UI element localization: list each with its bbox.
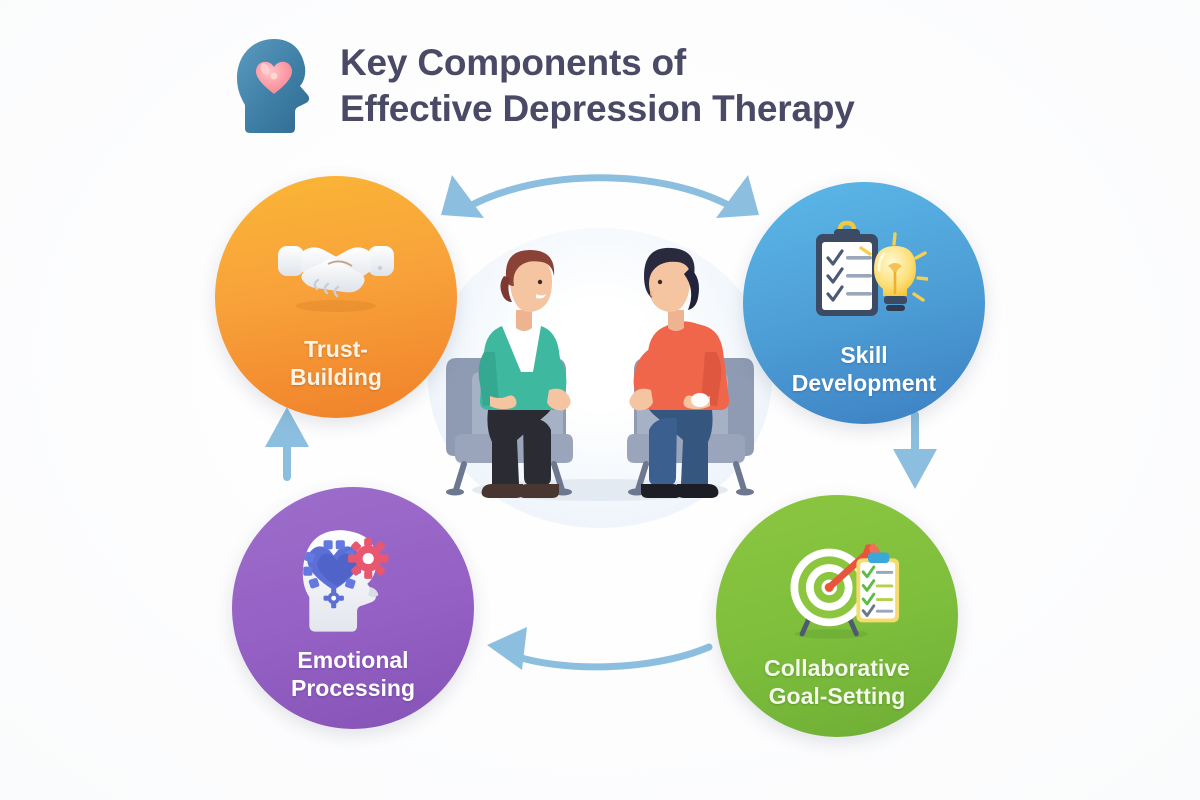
node-skill-development[interactable]: Skill Development [743,182,985,424]
head-gears-heart-icon [289,521,417,641]
clipboard-lightbulb-icon [800,216,928,336]
node-emotional-processing[interactable]: Emotional Processing [232,487,474,729]
handshake-icon [272,210,400,330]
arrow-right-down [893,415,937,489]
brain-heart-icon [232,36,318,136]
arrow-top-bidirectional [441,175,759,218]
title-line-2: Effective Depression Therapy [340,86,855,131]
header: Key Components of Effective Depression T… [232,28,952,143]
target-clipboard-icon [773,529,901,649]
title-line-1: Key Components of [340,40,855,85]
arrow-bottom-left [487,627,709,670]
infographic-canvas: Key Components of Effective Depression T… [0,0,1200,800]
node-label-collaborative-goal-setting: Collaborative Goal-Setting [752,655,922,710]
page-title: Key Components of Effective Depression T… [340,40,855,130]
node-label-emotional-processing: Emotional Processing [279,647,427,702]
center-figures [428,228,772,528]
node-label-skill-development: Skill Development [780,342,948,397]
therapy-session-illustration [428,228,772,528]
arrow-left-up [265,407,309,477]
node-collaborative-goal-setting[interactable]: Collaborative Goal-Setting [716,495,958,737]
node-trust-building[interactable]: Trust- Building [215,176,457,418]
node-label-trust-building: Trust- Building [278,336,394,391]
